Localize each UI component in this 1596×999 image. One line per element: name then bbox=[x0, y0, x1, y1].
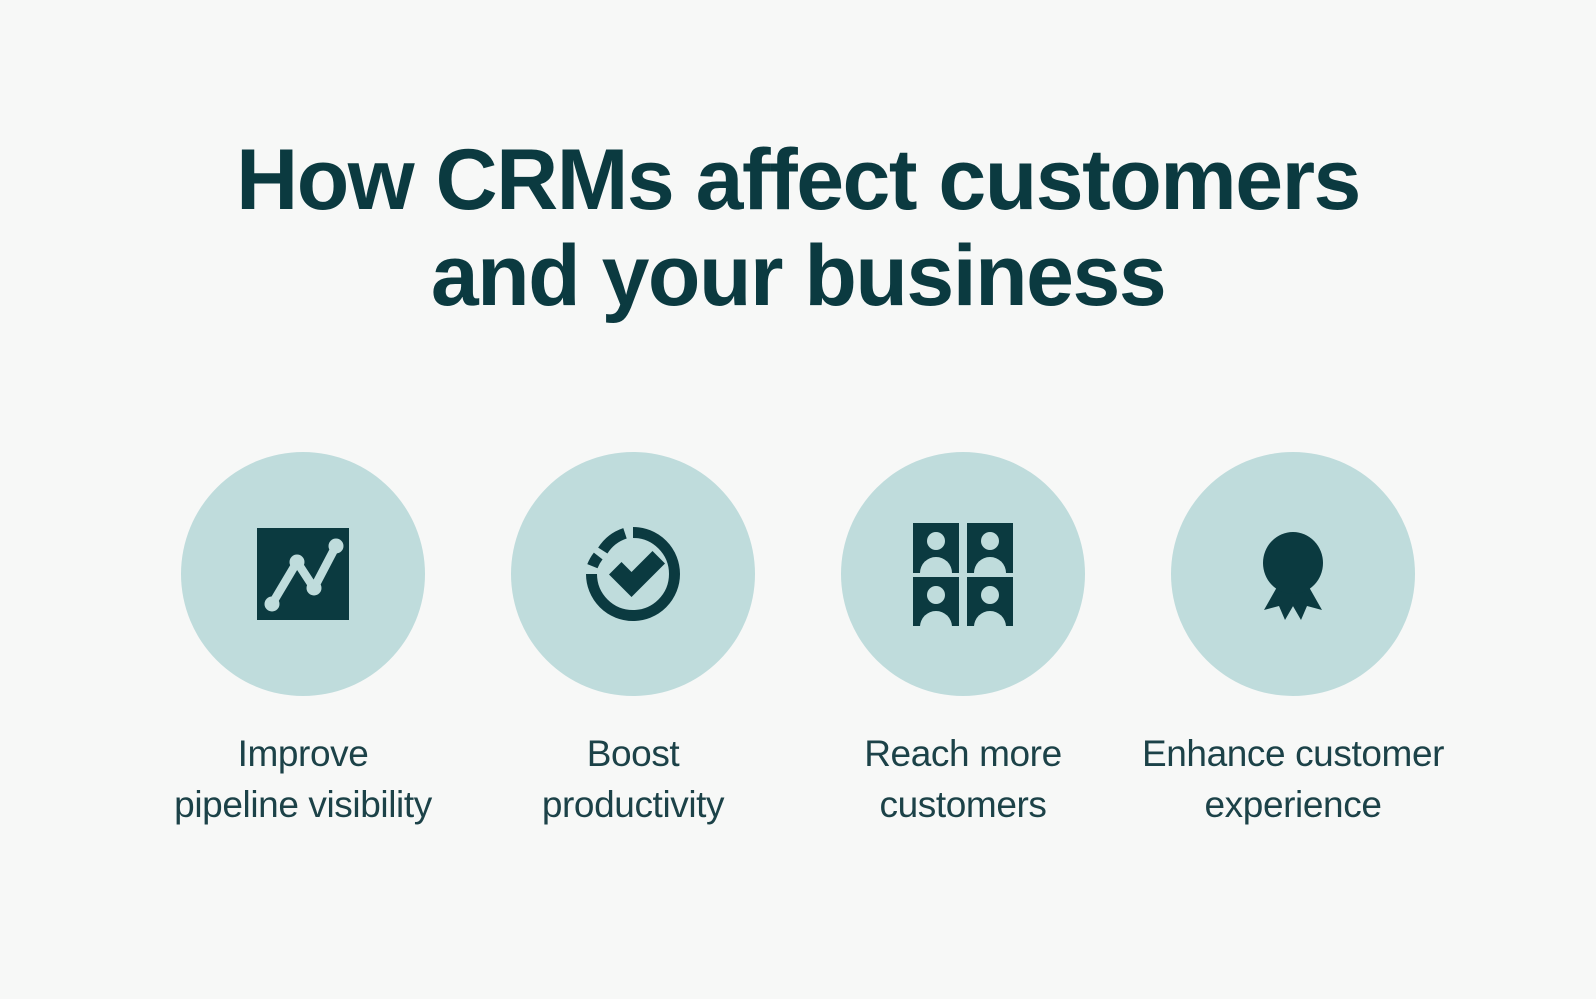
check-circle-progress-icon bbox=[581, 522, 685, 626]
page-title: How CRMs affect customers and your busin… bbox=[0, 132, 1596, 324]
benefit-card-enhance-customer-experience: Enhance customer experience bbox=[1171, 452, 1415, 830]
people-grid-icon bbox=[911, 522, 1015, 626]
line-chart-icon bbox=[251, 522, 355, 626]
benefit-cards-row: Improve pipeline visibility bbox=[0, 452, 1596, 830]
icon-circle-1 bbox=[181, 452, 425, 696]
benefit-card-improve-pipeline-visibility: Improve pipeline visibility bbox=[181, 452, 425, 830]
icon-circle-3 bbox=[841, 452, 1085, 696]
page-title-line-2: and your business bbox=[0, 228, 1596, 324]
benefit-card-boost-productivity: Boost productivity bbox=[511, 452, 755, 830]
benefit-card-label-3: Reach more customers bbox=[798, 728, 1128, 830]
benefit-card-label-4: Enhance customer experience bbox=[1128, 728, 1458, 830]
infographic-root: How CRMs affect customers and your busin… bbox=[0, 0, 1596, 999]
award-ribbon-icon bbox=[1241, 522, 1345, 626]
icon-circle-4 bbox=[1171, 452, 1415, 696]
benefit-card-label-1: Improve pipeline visibility bbox=[138, 728, 468, 830]
page-title-line-1: How CRMs affect customers bbox=[0, 132, 1596, 228]
icon-circle-2 bbox=[511, 452, 755, 696]
benefit-card-label-2: Boost productivity bbox=[468, 728, 798, 830]
benefit-card-reach-more-customers: Reach more customers bbox=[841, 452, 1085, 830]
